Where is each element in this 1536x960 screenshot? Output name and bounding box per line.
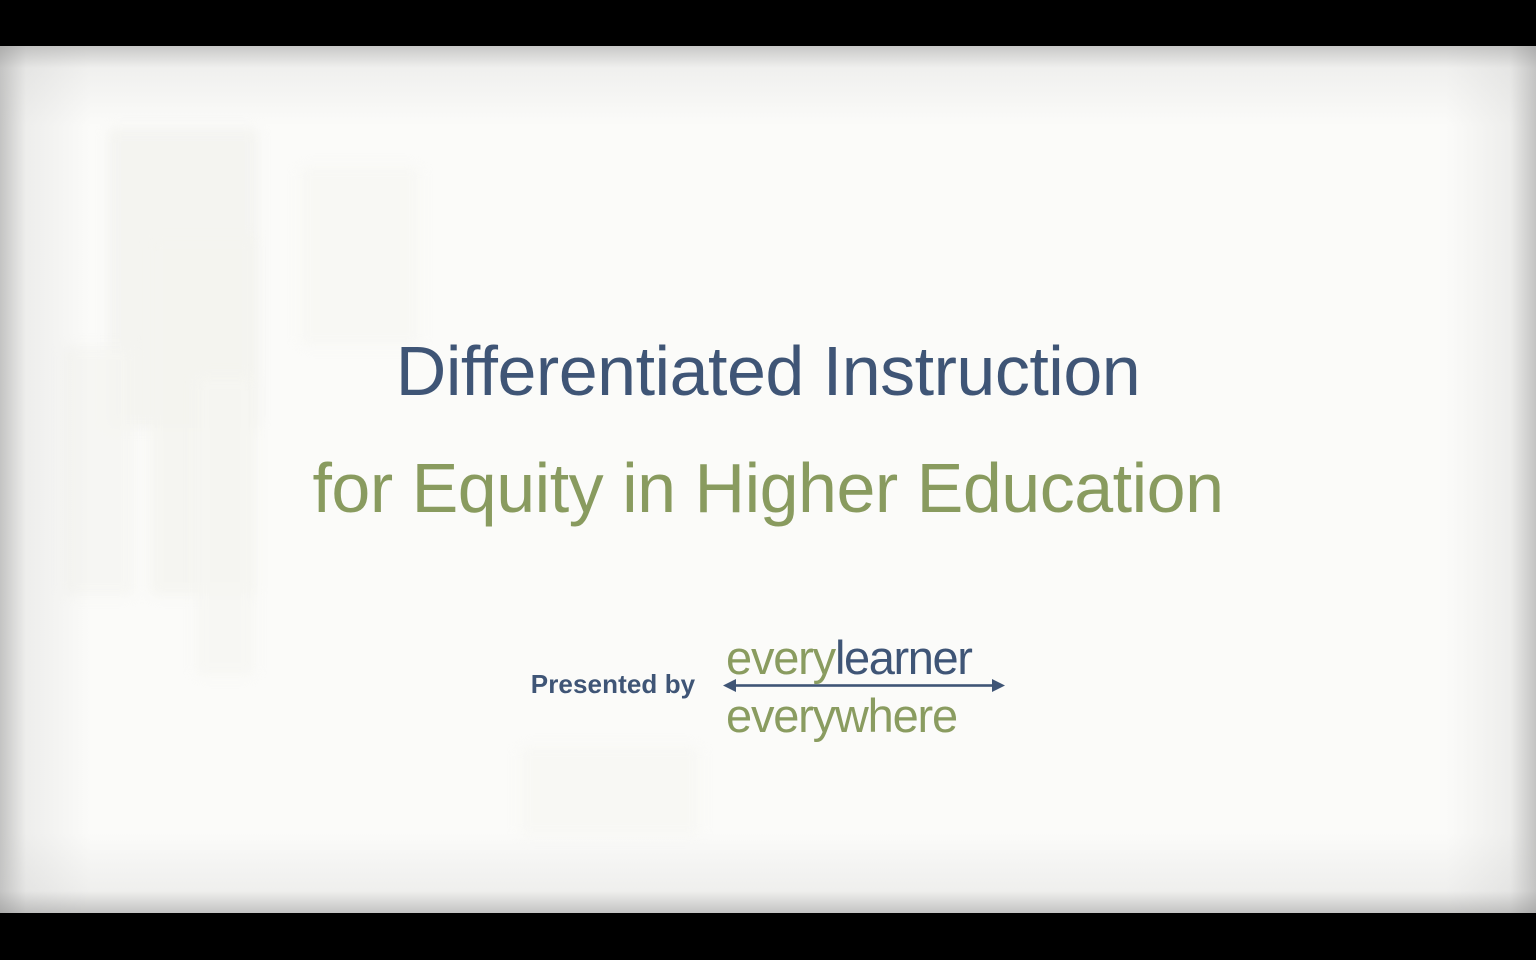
logo-artwork: every learner everywhere: [723, 628, 1005, 744]
slide-content: Differentiated Instruction for Equity in…: [0, 46, 1536, 913]
every-learner-everywhere-logo: every learner everywhere: [723, 628, 1005, 744]
logo-word-everywhere: everywhere: [726, 689, 957, 742]
video-player-stage: Differentiated Instruction for Equity in…: [0, 0, 1536, 960]
slide-title-line-1: Differentiated Instruction: [0, 336, 1536, 406]
presented-by-label: Presented by: [531, 669, 696, 704]
slide-title-line-2: for Equity in Higher Education: [0, 453, 1536, 523]
presentation-slide: Differentiated Instruction for Equity in…: [0, 46, 1536, 913]
logo-word-learner: learner: [835, 631, 972, 684]
letterbox-bar-bottom: [0, 913, 1536, 960]
letterbox-bar-top: [0, 0, 1536, 46]
presenter-row: Presented by every learner ev: [0, 616, 1536, 756]
logo-word-every: every: [726, 631, 837, 684]
